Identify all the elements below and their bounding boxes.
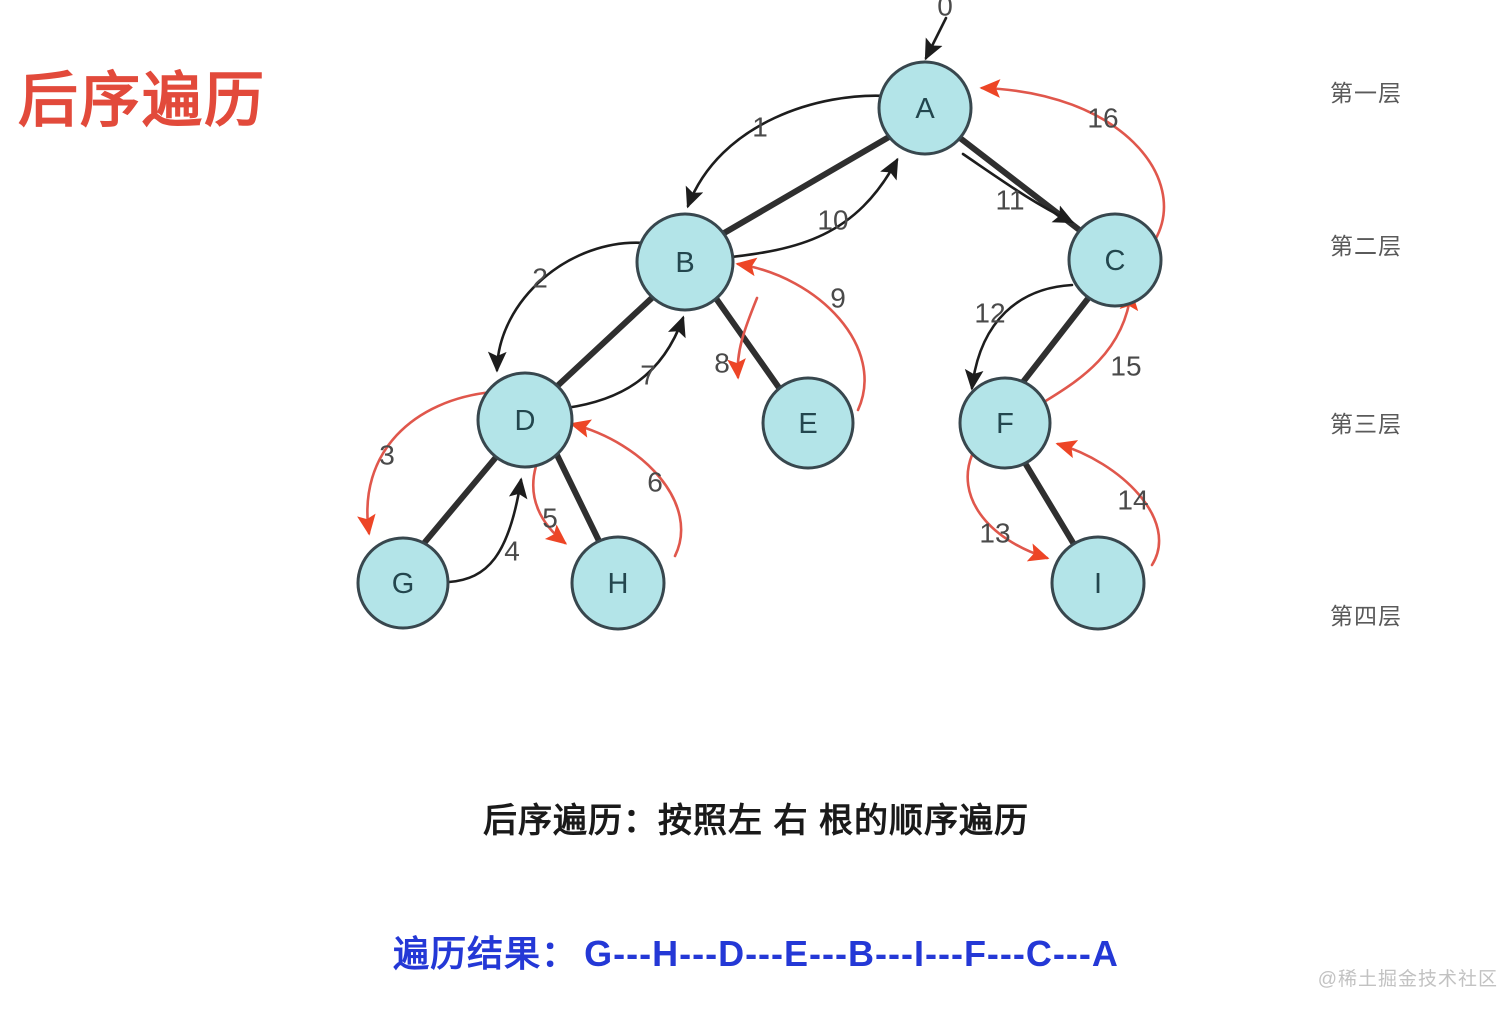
node-f-label: F [996,408,1014,440]
node-group: A B C D E F G [358,62,1161,629]
step-arrow-15 [1044,292,1131,402]
node-a[interactable]: A [879,62,971,154]
layer-label-4: 第四层 [1330,597,1402,631]
node-c-label: C [1105,245,1126,277]
step-number-16: 16 [1087,103,1118,134]
node-e[interactable]: E [763,378,853,468]
step-number-2: 2 [532,263,548,294]
step-number-12: 12 [974,298,1005,329]
step-arrow-1 [688,96,888,206]
node-f[interactable]: F [960,378,1050,468]
tree-edge-d-h [557,455,599,541]
layer-label-1: 第一层 [1330,74,1402,108]
step-number-1: 1 [752,112,768,143]
layer-label-2: 第二层 [1330,227,1402,261]
node-h[interactable]: H [572,537,664,629]
tree-graphics: A B C D E F G [0,0,1512,1014]
diagram-canvas: 后序遍历 [0,0,1512,1014]
node-i[interactable]: I [1052,537,1144,629]
node-b-label: B [675,247,694,279]
traversal-result-sequence: G---H---D---E---B---I---F---C---A [584,933,1119,974]
layer-label-3: 第三层 [1330,405,1402,439]
traversal-result-line: 遍历结果：G---H---D---E---B---I---F---C---A [0,925,1512,977]
watermark: @稀土掘金技术社区 [1318,964,1498,991]
node-a-label: A [915,93,935,125]
step-arrow-10 [722,160,897,258]
step-number-15: 15 [1110,351,1141,382]
node-b[interactable]: B [637,214,733,310]
step-number-10: 10 [817,205,848,236]
node-d-label: D [515,405,536,437]
step-arrow-0 [926,18,946,58]
step-number-7: 7 [640,360,656,391]
step-arrow-6 [572,424,681,556]
step-number-13: 13 [979,518,1010,549]
node-i-label: I [1094,568,1102,600]
step-number-14: 14 [1117,485,1148,516]
node-e-label: E [798,408,817,440]
node-g-label: G [392,568,415,600]
step-arrow-2 [497,243,645,370]
traversal-result-label: 遍历结果： [393,933,578,974]
step-number-6: 6 [647,467,663,498]
tree-edge-a-b [719,137,889,236]
step-arrow-16 [982,88,1164,240]
step-arrow-4 [449,480,521,582]
step-number-3: 3 [379,440,395,471]
tree-edge-d-g [425,456,497,542]
step-number-9: 9 [830,283,846,314]
node-c[interactable]: C [1069,214,1161,306]
tree-edge-group [425,137,1090,546]
step-number-4: 4 [504,536,520,567]
traversal-definition-caption: 后序遍历：按照左 右 根的顺序遍历 [0,793,1512,842]
node-d[interactable]: D [478,373,572,467]
step-number-11: 11 [995,185,1024,216]
tree-edge-c-f [1023,296,1090,382]
node-g[interactable]: G [358,538,448,628]
step-number-8: 8 [714,348,730,379]
step-number-0: 0 [937,0,953,22]
tree-edge-b-d [553,296,654,390]
node-h-label: H [608,568,629,600]
step-number-5: 5 [542,503,558,534]
tree-edge-f-i [1022,458,1075,546]
